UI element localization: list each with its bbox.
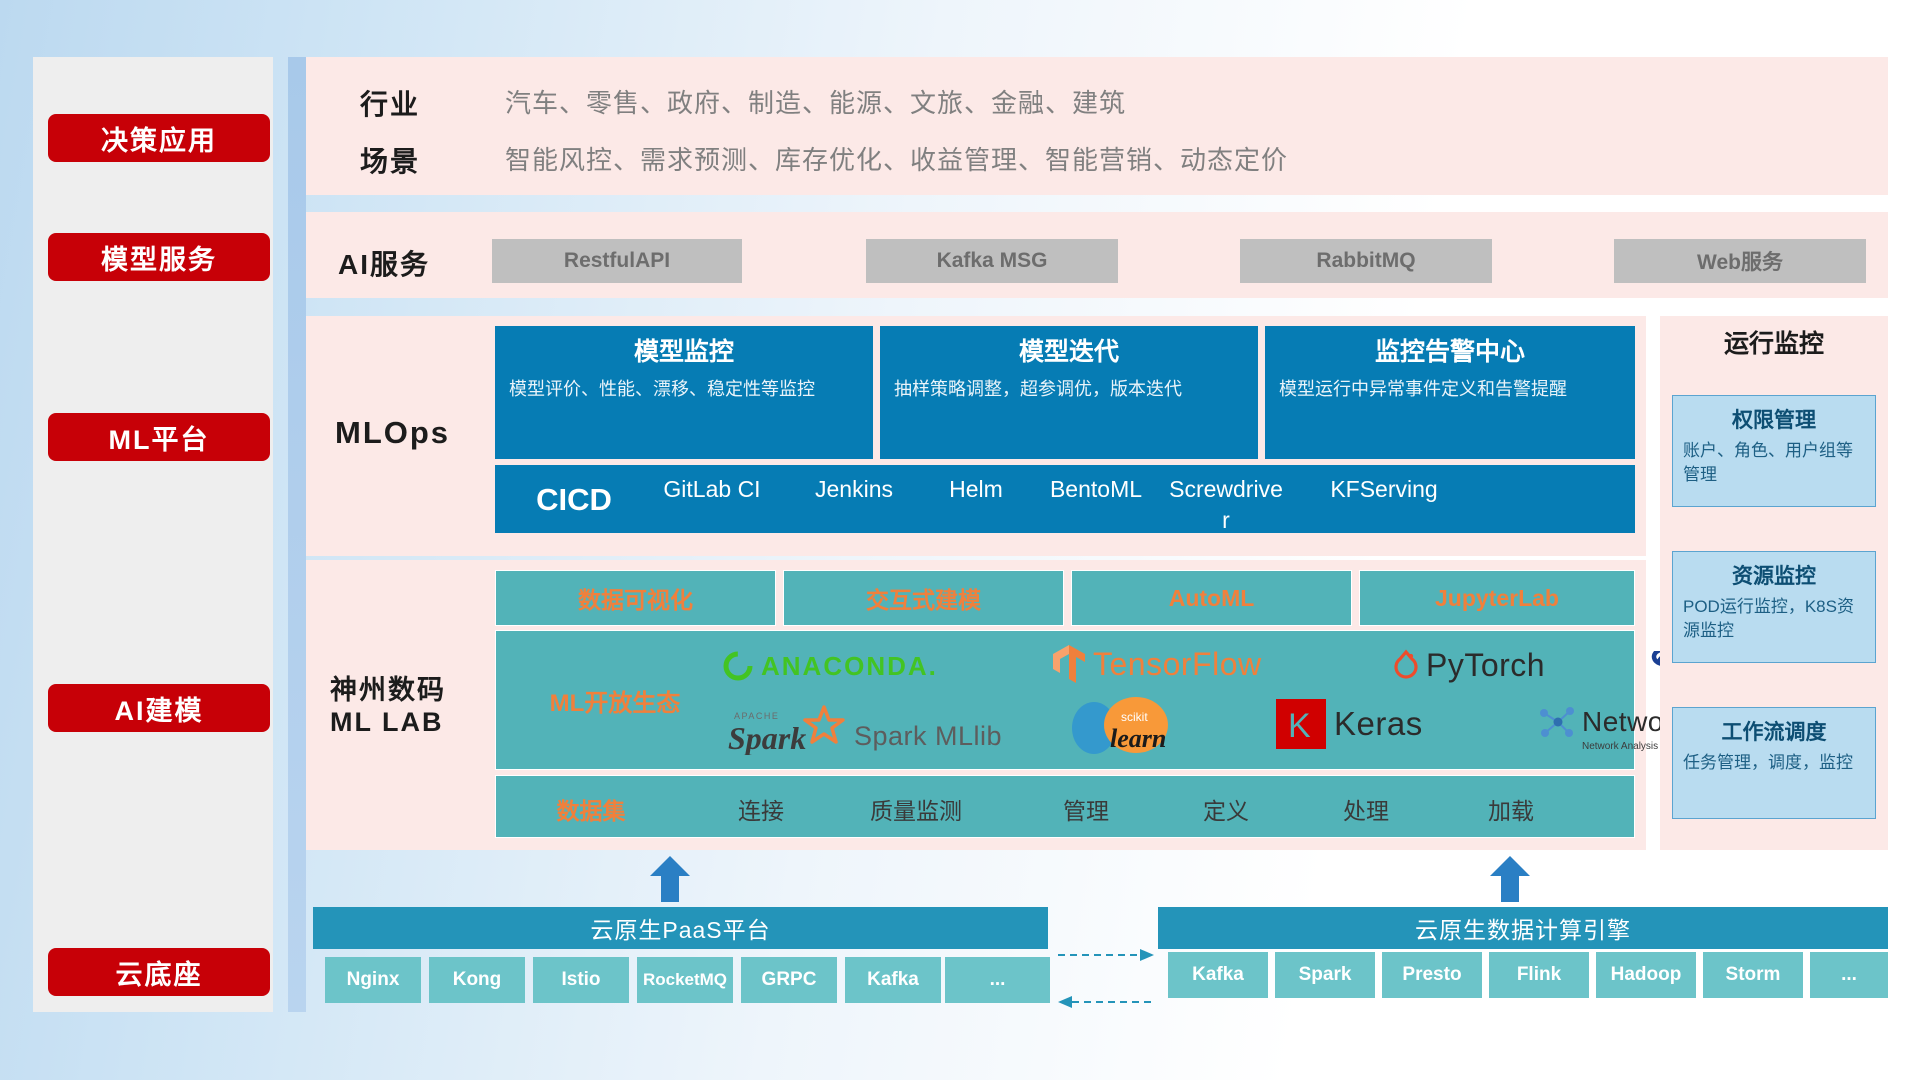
card-desc: 模型运行中异常事件定义和告警提醒	[1279, 376, 1621, 402]
cicd-item-screwdriver[interactable]: Screwdriver	[1167, 474, 1285, 533]
layer-rail	[33, 57, 273, 1012]
mlops-card-model-monitoring[interactable]: 模型监控 模型评价、性能、漂移、稳定性等监控	[495, 326, 873, 459]
dataset-row: 数据集 连接 质量监测 管理 定义 处理 加载	[495, 775, 1635, 838]
card-body: POD运行监控，K8S资源监控	[1683, 595, 1865, 643]
ml-lab-label-line2: ML LAB	[330, 707, 444, 738]
tensorflow-logo: TensorFlow	[1051, 643, 1262, 685]
industry-row-label: 行业	[360, 83, 420, 123]
ai-service-chip-restfulapi[interactable]: RestfulAPI	[492, 239, 742, 283]
layer-label-decision[interactable]: 决策应用	[48, 114, 270, 162]
dataset-item-process[interactable]: 处理	[1291, 792, 1441, 826]
mllib-label: Spark MLlib	[854, 721, 1002, 752]
cloud-paas-title: 云原生PaaS平台	[313, 907, 1048, 949]
ml-lab-tool-data-visualization[interactable]: 数据可视化	[495, 570, 776, 626]
industry-row-value: 汽车、零售、政府、制造、能源、文旅、金融、建筑	[505, 83, 1126, 120]
svg-text:learn: learn	[1110, 724, 1166, 753]
cloud-chip-kafka[interactable]: Kafka	[845, 957, 941, 1003]
scenario-row-label: 场景	[360, 140, 420, 180]
mlops-card-alert-center[interactable]: 监控告警中心 模型运行中异常事件定义和告警提醒	[1265, 326, 1635, 459]
card-heading: 权限管理	[1683, 404, 1865, 434]
cloud-chip-grpc[interactable]: GRPC	[741, 957, 837, 1003]
cicd-item-jenkins[interactable]: Jenkins	[795, 474, 913, 505]
cloud-chip-nginx[interactable]: Nginx	[325, 957, 421, 1003]
card-body: 账户、角色、用户组等管理	[1683, 439, 1865, 487]
svg-text:Spark: Spark	[728, 720, 806, 755]
card-heading: 工作流调度	[1683, 716, 1865, 746]
rail-blue-strip	[288, 57, 306, 1012]
card-desc: 抽样策略调整，超参调优，版本迭代	[894, 376, 1244, 402]
pytorch-logo: PyTorch	[1391, 647, 1545, 684]
keras-label: Keras	[1334, 705, 1423, 743]
mlops-label: MLOps	[335, 415, 450, 451]
cicd-title: CICD	[515, 479, 633, 521]
arrow-up-left	[650, 856, 688, 900]
monitor-card-workflow[interactable]: 工作流调度 任务管理，调度，监控	[1672, 707, 1876, 819]
cloud-chip-hadoop[interactable]: Hadoop	[1596, 952, 1696, 998]
dataset-item-manage[interactable]: 管理	[1011, 792, 1161, 826]
cloud-connector-top	[1058, 948, 1154, 967]
ai-service-chip-kafka-msg[interactable]: Kafka MSG	[866, 239, 1118, 283]
keras-logo: K Keras	[1276, 699, 1423, 749]
ml-lab-tool-interactive-modeling[interactable]: 交互式建模	[783, 570, 1064, 626]
cicd-bar: CICD GitLab CI Jenkins Helm BentoML Scre…	[495, 465, 1635, 533]
dataset-item-connect[interactable]: 连接	[686, 792, 836, 826]
cicd-item-helm[interactable]: Helm	[917, 474, 1035, 505]
cloud-chip-istio[interactable]: Istio	[533, 957, 629, 1003]
ml-ecosystem-label: ML开放生态	[520, 683, 710, 718]
scikit-learn-logo: scikit learn	[1066, 697, 1216, 755]
cicd-item-bentoml[interactable]: BentoML	[1037, 474, 1155, 505]
tensorflow-label: TensorFlow	[1093, 646, 1262, 683]
cloud-chip-more-right[interactable]: ...	[1810, 952, 1888, 998]
anaconda-logo: ANACONDA.	[721, 649, 938, 683]
layer-label-ai-modeling[interactable]: AI建模	[48, 684, 270, 732]
arrow-up-right	[1490, 856, 1528, 900]
card-title: 模型迭代	[894, 336, 1244, 370]
monitor-card-permission[interactable]: 权限管理 账户、角色、用户组等管理	[1672, 395, 1876, 507]
ml-ecosystem-box: ML开放生态 ANACONDA. TensorFlow PyTorch	[495, 630, 1635, 770]
monitor-card-resource[interactable]: 资源监控 POD运行监控，K8S资源监控	[1672, 551, 1876, 663]
monitor-title: 运行监控	[1660, 324, 1888, 360]
cloud-chip-kong[interactable]: Kong	[429, 957, 525, 1003]
cicd-item-kfserving[interactable]: KFServing	[1325, 474, 1443, 505]
architecture-diagram: 决策应用 模型服务 ML平台 AI建模 云底座 行业 汽车、零售、政府、制造、能…	[0, 0, 1920, 1080]
dataset-item-quality[interactable]: 质量监测	[841, 792, 991, 826]
layer-label-model-service[interactable]: 模型服务	[48, 233, 270, 281]
cloud-engine-title: 云原生数据计算引擎	[1158, 907, 1888, 949]
card-title: 监控告警中心	[1279, 336, 1621, 370]
cloud-chip-rocketmq[interactable]: RocketMQ	[637, 957, 733, 1003]
ml-lab-tool-jupyterlab[interactable]: JupyterLab	[1359, 570, 1635, 626]
ml-lab-label-line1: 神州数码	[330, 668, 446, 707]
cloud-chip-flink[interactable]: Flink	[1489, 952, 1589, 998]
anaconda-label: ANACONDA.	[761, 651, 938, 682]
dataset-label: 数据集	[516, 792, 666, 826]
cloud-chip-more-left[interactable]: ...	[945, 957, 1050, 1003]
dataset-item-define[interactable]: 定义	[1151, 792, 1301, 826]
cloud-connector-bottom	[1058, 995, 1154, 1014]
dataset-item-load[interactable]: 加载	[1436, 792, 1586, 826]
cloud-chip-kafka-r[interactable]: Kafka	[1168, 952, 1268, 998]
card-desc: 模型评价、性能、漂移、稳定性等监控	[509, 376, 859, 402]
spark-mllib-logo: APACHE Spark Spark MLlib	[728, 703, 1002, 755]
cloud-chip-presto[interactable]: Presto	[1382, 952, 1482, 998]
ml-lab-tool-automl[interactable]: AutoML	[1071, 570, 1352, 626]
scenario-row-value: 智能风控、需求预测、库存优化、收益管理、智能营销、动态定价	[505, 140, 1288, 177]
cloud-chip-spark[interactable]: Spark	[1275, 952, 1375, 998]
svg-text:scikit: scikit	[1121, 710, 1148, 724]
card-title: 模型监控	[509, 336, 859, 370]
card-body: 任务管理，调度，监控	[1683, 751, 1865, 775]
layer-label-ml-platform[interactable]: ML平台	[48, 413, 270, 461]
ai-service-label: AI服务	[338, 243, 430, 283]
cicd-item-gitlab-ci[interactable]: GitLab CI	[653, 474, 771, 505]
cloud-chip-storm[interactable]: Storm	[1703, 952, 1803, 998]
layer-label-cloud-base[interactable]: 云底座	[48, 948, 270, 996]
mlops-card-model-iteration[interactable]: 模型迭代 抽样策略调整，超参调优，版本迭代	[880, 326, 1258, 459]
svg-text:K: K	[1288, 707, 1311, 745]
ai-service-chip-web-service[interactable]: Web服务	[1614, 239, 1866, 283]
ai-service-chip-rabbitmq[interactable]: RabbitMQ	[1240, 239, 1492, 283]
card-heading: 资源监控	[1683, 560, 1865, 590]
pytorch-label: PyTorch	[1426, 647, 1545, 684]
